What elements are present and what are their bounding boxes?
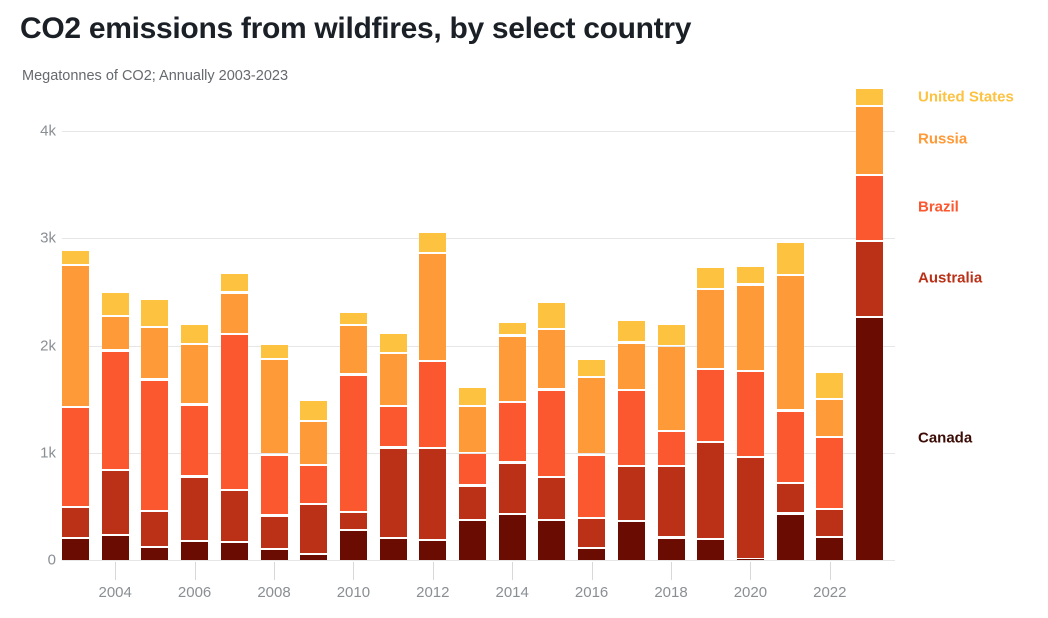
bar-segment[interactable]: [459, 388, 486, 405]
bar-group[interactable]: [419, 99, 446, 560]
bar-segment[interactable]: [538, 478, 565, 519]
legend-item-australia[interactable]: Australia: [918, 270, 982, 287]
bar-segment[interactable]: [697, 370, 724, 441]
bar-segment[interactable]: [221, 335, 248, 489]
bar-segment[interactable]: [181, 345, 208, 403]
bar-group[interactable]: [856, 99, 883, 560]
bar-group[interactable]: [499, 99, 526, 560]
bar-segment[interactable]: [62, 408, 89, 506]
bar-group[interactable]: [737, 99, 764, 560]
bar-segment[interactable]: [816, 510, 843, 536]
legend-item-russia[interactable]: Russia: [918, 131, 967, 148]
bar-segment[interactable]: [102, 293, 129, 316]
bar-group[interactable]: [181, 99, 208, 560]
bar-segment[interactable]: [141, 300, 168, 326]
bar-segment[interactable]: [658, 347, 685, 429]
bar-group[interactable]: [261, 99, 288, 560]
x-axis-tick-mark: [750, 562, 751, 580]
bar-segment[interactable]: [340, 376, 367, 512]
bar-segment[interactable]: [181, 478, 208, 540]
x-axis-tick-mark: [592, 562, 593, 580]
bar-group[interactable]: [102, 99, 129, 560]
bar-segment[interactable]: [459, 487, 486, 519]
bar-segment[interactable]: [578, 519, 605, 546]
bar-segment[interactable]: [261, 360, 288, 453]
bar-segment[interactable]: [419, 233, 446, 252]
x-axis-tick-mark: [195, 562, 196, 580]
bar-segment[interactable]: [300, 505, 327, 552]
legend-item-brazil[interactable]: Brazil: [918, 198, 959, 215]
bar-segment[interactable]: [380, 354, 407, 405]
bar-segment[interactable]: [459, 521, 486, 560]
x-axis-tick-label: 2010: [337, 584, 370, 601]
x-axis-tick-label: 2008: [257, 584, 290, 601]
bar-segment[interactable]: [737, 286, 764, 371]
bar-segment[interactable]: [578, 378, 605, 453]
y-axis-tick-label: 3k: [10, 230, 56, 247]
bar-segment[interactable]: [658, 432, 685, 465]
bar-segment[interactable]: [816, 538, 843, 560]
bar-segment[interactable]: [658, 539, 685, 560]
bar-segment[interactable]: [62, 539, 89, 560]
bar-segment[interactable]: [181, 325, 208, 343]
bar-segment[interactable]: [777, 484, 804, 512]
bar-group[interactable]: [141, 99, 168, 560]
x-axis-tick-label: 2006: [178, 584, 211, 601]
bar-segment[interactable]: [856, 107, 883, 173]
bar-segment[interactable]: [380, 449, 407, 537]
bar-group[interactable]: [618, 99, 645, 560]
bar-segment[interactable]: [141, 548, 168, 560]
bar-segment[interactable]: [816, 373, 843, 397]
bar-segment[interactable]: [538, 303, 565, 328]
bar-segment[interactable]: [62, 251, 89, 264]
bar-segment[interactable]: [856, 318, 883, 560]
x-axis-tick-mark: [671, 562, 672, 580]
bar-segment[interactable]: [658, 467, 685, 537]
bar-segment[interactable]: [181, 542, 208, 560]
x-axis-tick-label: 2020: [734, 584, 767, 601]
bar-segment[interactable]: [221, 294, 248, 334]
bar-segment[interactable]: [141, 512, 168, 545]
bar-segment[interactable]: [380, 334, 407, 352]
bar-segment[interactable]: [340, 313, 367, 324]
bar-segment[interactable]: [221, 491, 248, 540]
bar-segment[interactable]: [697, 268, 724, 287]
bar-segment[interactable]: [419, 362, 446, 447]
bar-segment[interactable]: [62, 508, 89, 537]
bar-segment[interactable]: [221, 274, 248, 292]
bar-segment[interactable]: [340, 513, 367, 528]
bar-group[interactable]: [300, 99, 327, 560]
bar-segment[interactable]: [62, 266, 89, 406]
bar-segment[interactable]: [261, 456, 288, 515]
bar-segment[interactable]: [141, 381, 168, 511]
bar-segment[interactable]: [618, 467, 645, 520]
bar-segment[interactable]: [300, 401, 327, 420]
bar-segment[interactable]: [777, 276, 804, 409]
bar-segment[interactable]: [697, 290, 724, 368]
bar-segment[interactable]: [499, 403, 526, 461]
bar-segment[interactable]: [618, 344, 645, 390]
bar-segment[interactable]: [102, 352, 129, 469]
bar-segment[interactable]: [419, 254, 446, 360]
bar-group[interactable]: [340, 99, 367, 560]
bar-segment[interactable]: [816, 400, 843, 436]
legend-item-united-states[interactable]: United States: [918, 89, 1014, 106]
bar-segment[interactable]: [777, 412, 804, 482]
bar-group[interactable]: [538, 99, 565, 560]
bar-segment[interactable]: [658, 325, 685, 345]
y-axis-tick-label: 1k: [10, 444, 56, 461]
chart-container: CO2 emissions from wildfires, by select …: [0, 0, 1048, 618]
bar-segment[interactable]: [499, 337, 526, 401]
bar-segment[interactable]: [102, 471, 129, 534]
bar-segment[interactable]: [499, 464, 526, 513]
bar-segment[interactable]: [737, 458, 764, 558]
x-axis-tick-mark: [115, 562, 116, 580]
bar-segment[interactable]: [221, 543, 248, 560]
bar-segment[interactable]: [261, 550, 288, 560]
bar-segment[interactable]: [697, 540, 724, 560]
bar-segment[interactable]: [181, 406, 208, 476]
bar-segment[interactable]: [380, 407, 407, 446]
bar-segment[interactable]: [538, 391, 565, 476]
bar-segment[interactable]: [261, 517, 288, 548]
bar-segment[interactable]: [737, 372, 764, 456]
bar-segment[interactable]: [300, 466, 327, 503]
y-axis-tick-label: 2k: [10, 337, 56, 354]
bar-group[interactable]: [221, 99, 248, 560]
bar-segment[interactable]: [856, 89, 883, 105]
bar-segment[interactable]: [419, 449, 446, 539]
bar-segment[interactable]: [697, 443, 724, 538]
bar-group[interactable]: [459, 99, 486, 560]
plot-area: 01k2k3k4k2004200620082010201220142016201…: [0, 0, 1048, 618]
x-axis-tick-mark: [512, 562, 513, 580]
legend-item-canada[interactable]: Canada: [918, 430, 972, 447]
bar-segment[interactable]: [538, 521, 565, 560]
bar-segment[interactable]: [737, 559, 764, 560]
bar-segment[interactable]: [737, 267, 764, 284]
bar-segment[interactable]: [856, 176, 883, 240]
bar-segment[interactable]: [618, 321, 645, 341]
y-axis-tick-label: 4k: [10, 123, 56, 140]
x-axis-tick-label: 2012: [416, 584, 449, 601]
bar-segment[interactable]: [777, 243, 804, 274]
bar-segment[interactable]: [340, 531, 367, 560]
bar-segment[interactable]: [419, 541, 446, 560]
bar-segment[interactable]: [102, 536, 129, 560]
y-axis-tick-label: 0: [10, 552, 56, 569]
bar-group[interactable]: [777, 99, 804, 560]
bar-segment[interactable]: [102, 317, 129, 349]
x-axis-tick-label: 2018: [654, 584, 687, 601]
bar-segment[interactable]: [141, 328, 168, 378]
bar-segment[interactable]: [538, 330, 565, 388]
x-axis-tick-mark: [433, 562, 434, 580]
bar-segment[interactable]: [856, 242, 883, 316]
bar-segment[interactable]: [380, 539, 407, 560]
bar-group[interactable]: [697, 99, 724, 560]
bar-group[interactable]: [62, 99, 89, 560]
bar-segment[interactable]: [340, 326, 367, 374]
bar-segment[interactable]: [618, 522, 645, 560]
bar-segment[interactable]: [261, 345, 288, 358]
bar-segment[interactable]: [618, 391, 645, 464]
bar-group[interactable]: [578, 99, 605, 560]
bar-segment[interactable]: [499, 323, 526, 334]
bar-segment[interactable]: [300, 555, 327, 560]
bar-segment[interactable]: [578, 549, 605, 560]
bar-segment[interactable]: [459, 454, 486, 484]
x-axis-tick-label: 2016: [575, 584, 608, 601]
bar-segment[interactable]: [578, 360, 605, 376]
bar-segment[interactable]: [300, 422, 327, 464]
x-axis-tick-label: 2022: [813, 584, 846, 601]
x-axis-tick-mark: [274, 562, 275, 580]
x-axis-tick-mark: [353, 562, 354, 580]
x-axis-tick-label: 2004: [99, 584, 132, 601]
bar-group[interactable]: [816, 99, 843, 560]
bar-segment[interactable]: [499, 515, 526, 560]
bar-group[interactable]: [380, 99, 407, 560]
bar-segment[interactable]: [777, 515, 804, 561]
x-axis-tick-label: 2014: [496, 584, 529, 601]
x-axis-tick-mark: [830, 562, 831, 580]
bar-segment[interactable]: [816, 438, 843, 508]
bar-segment[interactable]: [459, 407, 486, 451]
gridline: [62, 560, 895, 561]
bar-group[interactable]: [658, 99, 685, 560]
bar-segment[interactable]: [578, 456, 605, 518]
